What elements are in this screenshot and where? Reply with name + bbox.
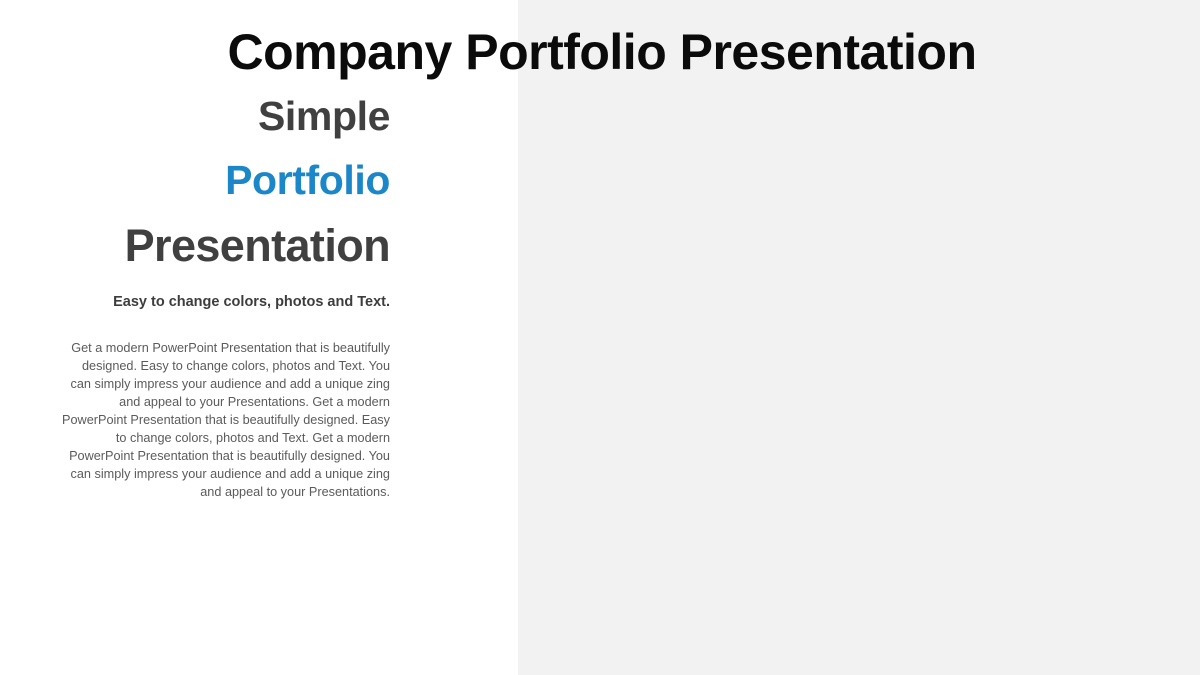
presentation-slide: Company Portfolio Presentation Simple Po… [0,0,1200,675]
headline-line-presentation: Presentation [60,223,390,268]
body-paragraph: Get a modern PowerPoint Presentation tha… [60,339,390,501]
page-title: Company Portfolio Presentation [180,24,1024,80]
headline-line-simple: Simple [60,96,390,137]
right-gray-panel [518,0,1200,675]
headline-line-portfolio: Portfolio [60,160,390,201]
left-text-column: Simple Portfolio Presentation Easy to ch… [60,96,390,501]
tagline-text: Easy to change colors, photos and Text. [60,292,390,313]
